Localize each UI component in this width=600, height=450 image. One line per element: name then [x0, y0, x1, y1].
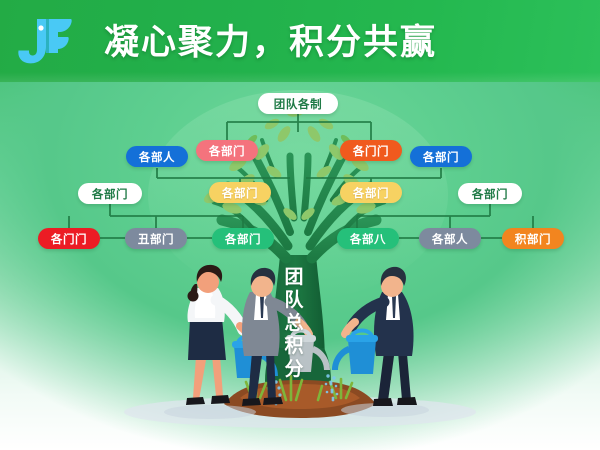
node-label: 各部人 — [432, 231, 468, 247]
node-l5-right[interactable]: 各部门 — [458, 183, 522, 204]
trunk-label-char: 团 — [281, 266, 307, 289]
node-l6-f[interactable]: 积部门 — [502, 228, 564, 249]
watering-can-blue-right — [332, 331, 378, 375]
node-l2-right[interactable]: 各门门 — [340, 140, 402, 161]
node-label: 各部门 — [423, 149, 459, 165]
node-root-label: 团队各制 — [274, 96, 322, 112]
trunk-label: 团 队 总 积 分 — [281, 266, 307, 381]
node-label: 各部门 — [92, 186, 128, 202]
node-label: 丑部门 — [138, 231, 174, 247]
node-l6-c[interactable]: 各部门 — [212, 228, 274, 249]
trunk-label-char: 分 — [281, 358, 307, 381]
node-label: 各门门 — [51, 231, 87, 247]
node-label: 各部门 — [353, 185, 389, 201]
node-l3-right[interactable]: 各部门 — [410, 146, 472, 167]
node-l6-e[interactable]: 各部人 — [419, 228, 481, 249]
node-label: 各部八 — [350, 231, 386, 247]
node-l2-left[interactable]: 各部门 — [196, 140, 258, 161]
businessman-navy-suit-watering — [330, 267, 418, 406]
node-l6-b[interactable]: 丑部门 — [125, 228, 187, 249]
trunk-label-char: 总 — [281, 312, 307, 335]
poster-canvas: 凝心聚力，积分共赢 — [0, 0, 600, 450]
node-label: 各部人 — [139, 149, 175, 165]
node-label: 各部门 — [225, 231, 261, 247]
node-label: 各部门 — [209, 143, 245, 159]
node-label: 各门门 — [353, 143, 389, 159]
node-l6-a[interactable]: 各门门 — [38, 228, 100, 249]
trunk-label-char: 积 — [281, 335, 307, 358]
trunk-label-char: 队 — [281, 289, 307, 312]
node-l4-left[interactable]: 各部门 — [209, 182, 271, 203]
people-illustration — [0, 0, 600, 450]
node-l3-left[interactable]: 各部人 — [126, 146, 188, 167]
node-l4-right[interactable]: 各部门 — [340, 182, 402, 203]
node-l5-left[interactable]: 各部门 — [78, 183, 142, 204]
node-label: 各部门 — [222, 185, 258, 201]
node-label: 各部门 — [472, 186, 508, 202]
node-label: 积部门 — [515, 231, 551, 247]
node-root[interactable]: 团队各制 — [258, 93, 338, 114]
node-l6-d[interactable]: 各部八 — [337, 228, 399, 249]
